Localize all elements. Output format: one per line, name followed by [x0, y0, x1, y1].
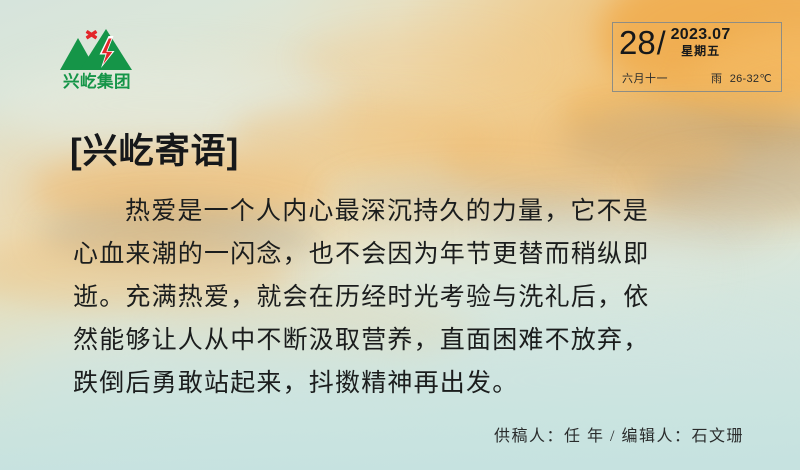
date-card-top-row: 28 / 2023.07 星期五 [613, 23, 781, 67]
date-weekday: 星期五 [681, 44, 720, 58]
date-day-number: 28 [619, 25, 656, 61]
date-yearmonth-group: 2023.07 星期五 [671, 25, 731, 58]
mountain-logo-icon: 兴屹集团 [56, 20, 138, 92]
weather-temperature: 26-32℃ [730, 73, 772, 85]
date-card-bottom-row: 六月十一 雨 26-32℃ [613, 67, 781, 89]
weather-info: 雨 26-32℃ [711, 70, 772, 86]
weather-condition: 雨 [711, 73, 722, 85]
logo-company-name: 兴屹集团 [63, 71, 131, 91]
body-line: 然能够让人从中不断汲取营养，直面困难不放弃， [73, 319, 733, 362]
body-line: 心血来潮的一闪念，也不会因为年节更替而稍纵即 [73, 233, 733, 276]
lunar-date: 六月十一 [622, 70, 668, 86]
date-card: 28 / 2023.07 星期五 六月十一 雨 26-32℃ [612, 22, 782, 92]
company-logo: 兴屹集团 [56, 20, 138, 92]
spark-x-icon [86, 30, 98, 40]
credits-line: 供稿人：任 年 / 编辑人：石文珊 [494, 422, 744, 446]
body-line: 热爱是一个人内心最深沉持久的力量，它不是 [73, 190, 733, 233]
body-line: 逝。充满热爱，就会在历经时光考验与洗礼后，依 [73, 276, 733, 319]
message-body: 热爱是一个人内心最深沉持久的力量，它不是 心血来潮的一闪念，也不会因为年节更替而… [73, 190, 733, 405]
date-separator: / [657, 25, 666, 61]
poster-canvas: 兴屹集团 28 / 2023.07 星期五 六月十一 雨 26-32℃ [兴屹寄… [0, 0, 800, 470]
date-year-month: 2023.07 [671, 26, 731, 43]
page-title: [兴屹寄语] [70, 123, 239, 174]
body-line: 跌倒后勇敢站起来，抖擞精神再出发。 [73, 362, 733, 405]
